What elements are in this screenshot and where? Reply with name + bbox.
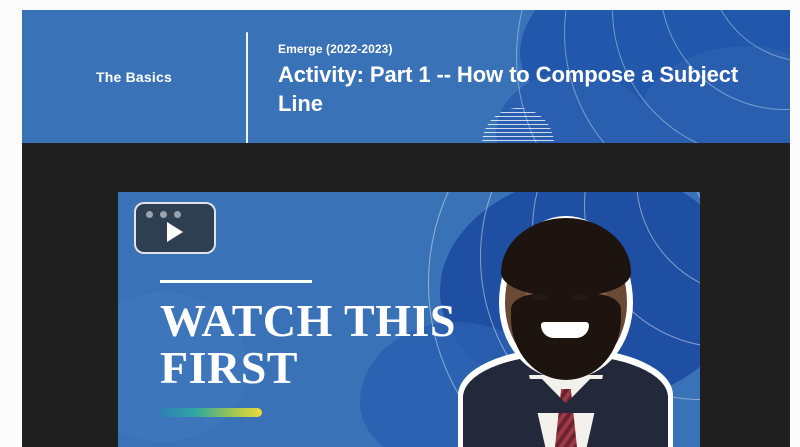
section-label-text: The Basics: [96, 69, 172, 85]
play-triangle-icon: [167, 222, 183, 242]
course-term-label: Emerge (2022-2023): [278, 42, 772, 56]
video-title-block: WATCH THIS FIRST: [160, 280, 456, 417]
presenter-eye: [533, 294, 548, 300]
banner-divider: [246, 32, 248, 143]
banner-title-block: Emerge (2022-2023) Activity: Part 1 -- H…: [278, 42, 772, 118]
presenter-smile: [541, 322, 589, 338]
presenter-eyebrow: [530, 284, 550, 289]
video-player[interactable]: WATCH THIS FIRST: [118, 192, 700, 447]
presenter-portrait: [463, 222, 668, 447]
presenter-eyebrow: [570, 284, 590, 289]
page-root: The Basics Emerge (2022-2023) Activity: …: [0, 0, 800, 447]
accent-gradient-bar: [160, 408, 262, 417]
presenter-eye: [573, 294, 588, 300]
portrait-cutout: [463, 222, 668, 447]
page-title: Activity: Part 1 -- How to Compose a Sub…: [278, 61, 772, 117]
title-rule: [160, 280, 312, 283]
video-title: WATCH THIS FIRST: [160, 297, 456, 392]
banner-section-label: The Basics: [22, 10, 246, 143]
presenter-hair: [501, 218, 631, 296]
play-button[interactable]: [134, 202, 216, 254]
course-banner: The Basics Emerge (2022-2023) Activity: …: [22, 10, 790, 143]
badge-dots-icon: [146, 211, 181, 218]
